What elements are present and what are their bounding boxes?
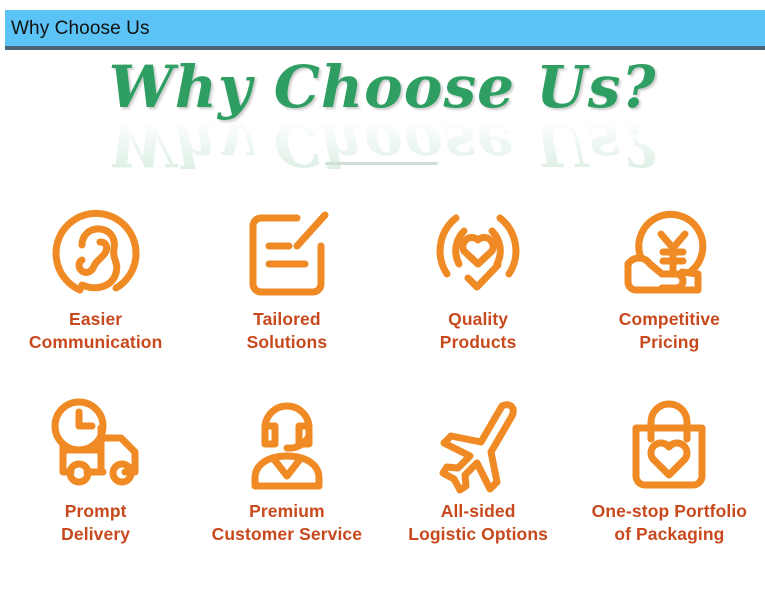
feature-label: One-stop Portfolio of Packaging [592,500,747,547]
feature-item-competitive-pricing[interactable]: Competitive Pricing [574,196,765,388]
hand-yen-coin-icon [617,196,721,308]
hero-title-wrapper: Why Choose Us? [0,58,765,116]
feature-label-line: Prompt [61,500,130,523]
feature-label-line: Customer Service [212,523,362,546]
feature-label: Easier Communication [29,308,163,355]
page-title-reflection: Why Choose Us? [109,116,657,174]
feature-item-all-sided-logistic-options[interactable]: All-sided Logistic Options [383,388,574,599]
feature-label-line: Delivery [61,523,130,546]
feature-item-one-stop-portfolio-of-packaging[interactable]: One-stop Portfolio of Packaging [574,388,765,599]
feature-label-line: Easier [29,308,163,331]
window-header-bar: Why Choose Us [5,10,765,50]
headset-agent-icon [237,388,337,500]
feature-label-line: Pricing [619,331,720,354]
feature-label: Tailored Solutions [247,308,328,355]
feature-label: Prompt Delivery [61,500,130,547]
feature-label-line: Tailored [247,308,328,331]
heart-signal-check-icon [428,196,528,308]
window-title: Why Choose Us [5,19,150,38]
feature-label-line: Solutions [247,331,328,354]
airplane-icon [428,388,528,500]
feature-row: Easier Communication Tailored Solutions [0,196,765,388]
feature-label-line: Competitive [619,308,720,331]
hero-title-reflection: Why Choose Us? [0,116,765,174]
shopping-bag-heart-icon [619,388,719,500]
feature-label-line: of Packaging [592,523,747,546]
feature-label-line: Products [440,331,517,354]
feature-label-line: All-sided [408,500,548,523]
feature-item-premium-customer-service[interactable]: Premium Customer Service [191,388,382,599]
feature-label: Quality Products [440,308,517,355]
feature-label: Competitive Pricing [619,308,720,355]
feature-item-quality-products[interactable]: Quality Products [383,196,574,388]
feature-label-line: Communication [29,331,163,354]
feature-row: Prompt Delivery Premium Customer Service [0,388,765,599]
feature-label: All-sided Logistic Options [408,500,548,547]
feature-item-tailored-solutions[interactable]: Tailored Solutions [191,196,382,388]
hero-banner: Why Choose Us? Why Choose Us? [0,58,765,168]
feature-label-line: Premium [212,500,362,523]
feature-label: Premium Customer Service [212,500,362,547]
document-pencil-icon [239,196,335,308]
feature-label-line: Logistic Options [408,523,548,546]
delivery-truck-clock-icon [43,388,149,500]
ear-listening-icon [50,196,142,308]
feature-item-easier-communication[interactable]: Easier Communication [0,196,191,388]
feature-label-line: One-stop Portfolio [592,500,747,523]
feature-grid: Easier Communication Tailored Solutions [0,196,765,599]
title-divider [325,162,438,165]
feature-item-prompt-delivery[interactable]: Prompt Delivery [0,388,191,599]
feature-label-line: Quality [440,308,517,331]
page-title: Why Choose Us? [109,58,657,116]
